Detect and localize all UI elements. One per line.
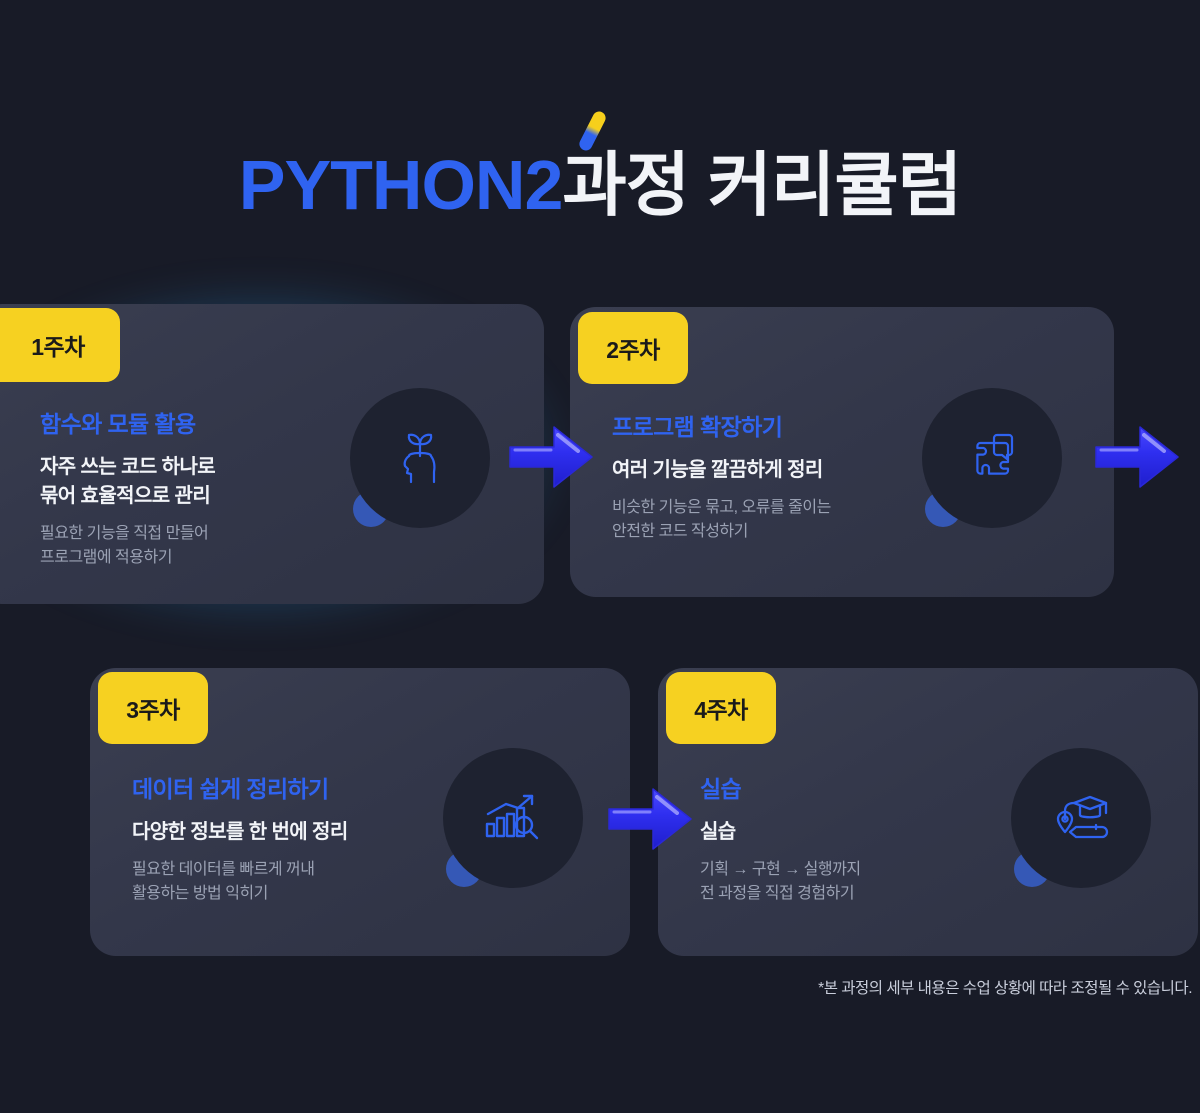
week-badge-3: 3주차: [98, 672, 208, 744]
bar-chart-search-icon: [443, 748, 583, 888]
week-card-4-subtitle: 실습: [700, 818, 861, 847]
week-card-3-text: 데이터 쉽게 정리하기 다양한 정보를 한 번에 정리 필요한 데이터를 빠르게…: [132, 770, 348, 906]
week-card-2-text: 프로그램 확장하기 여러 기능을 깔끔하게 정리 비슷한 기능은 묶고, 오류를…: [612, 408, 831, 544]
week-card-1-description: 필요한 기능을 직접 만들어 프로그램에 적용하기: [40, 522, 215, 570]
week-card-3-title: 데이터 쉽게 정리하기: [132, 770, 348, 804]
week-card-3-description-line-2: 활용하는 방법 익히기: [132, 882, 348, 906]
week-card-4-subtitle-line-1: 실습: [700, 818, 861, 847]
week-badge-2: 2주차: [578, 312, 688, 384]
week-badge-1: 1주차: [0, 308, 120, 382]
arrow-week2-to-next-icon: [1094, 423, 1180, 491]
head-sprout-icon: [350, 388, 490, 528]
title-accent-word: PYTHON2: [239, 150, 563, 220]
page-title: PYTHON2 과정 커리큘럼: [0, 150, 1200, 220]
week-card-1-subtitle: 자주 쓰는 코드 하나로 묶어 효율적으로 관리: [40, 453, 215, 511]
week-card-1-description-line-2: 프로그램에 적용하기: [40, 546, 215, 570]
week-badge-4: 4주차: [666, 672, 776, 744]
week-card-1-title: 함수와 모듈 활용: [40, 405, 215, 439]
week-card-3-subtitle: 다양한 정보를 한 번에 정리: [132, 818, 348, 847]
week-card-1-subtitle-line-1: 자주 쓰는 코드 하나로: [40, 453, 215, 482]
arrow-week3-to-week4-icon: [607, 785, 693, 853]
graduation-pin-pencil-icon: [1011, 748, 1151, 888]
week-card-2-description: 비슷한 기능은 묶고, 오류를 줄이는 안전한 코드 작성하기: [612, 496, 831, 544]
week-card-4-description-line-1: 기획 → 구현 → 실행까지: [700, 858, 861, 882]
title-main-word: 과정 커리큘럼: [562, 150, 961, 220]
week-card-4-text: 실습 실습 기획 → 구현 → 실행까지 전 과정을 직접 경험하기: [700, 770, 861, 906]
week-card-4-description-line-2: 전 과정을 직접 경험하기: [700, 882, 861, 906]
arrow-week1-to-week2-icon: [508, 423, 594, 491]
week-card-1-text: 함수와 모듈 활용 자주 쓰는 코드 하나로 묶어 효율적으로 관리 필요한 기…: [40, 405, 215, 570]
week-card-2-description-line-2: 안전한 코드 작성하기: [612, 520, 831, 544]
week-card-1-subtitle-line-2: 묶어 효율적으로 관리: [40, 482, 215, 511]
week-card-2-subtitle-line-1: 여러 기능을 깔끔하게 정리: [612, 456, 831, 485]
week-card-3-subtitle-line-1: 다양한 정보를 한 번에 정리: [132, 818, 348, 847]
week-card-2-description-line-1: 비슷한 기능은 묶고, 오류를 줄이는: [612, 496, 831, 520]
footnote-text: *본 과정의 세부 내용은 수업 상황에 따라 조정될 수 있습니다.: [0, 976, 1192, 998]
puzzle-pieces-icon: [922, 388, 1062, 528]
week-card-2-subtitle: 여러 기능을 깔끔하게 정리: [612, 456, 831, 485]
week-card-1-description-line-1: 필요한 기능을 직접 만들어: [40, 522, 215, 546]
week-card-3-description: 필요한 데이터를 빠르게 꺼내 활용하는 방법 익히기: [132, 858, 348, 906]
week-card-2-title: 프로그램 확장하기: [612, 408, 831, 442]
week-card-3-description-line-1: 필요한 데이터를 빠르게 꺼내: [132, 858, 348, 882]
curriculum-infographic: PYTHON2 과정 커리큘럼 1주차 함수와 모듈 활용 자주 쓰는 코드 하…: [0, 0, 1200, 1113]
week-card-4-title: 실습: [700, 770, 861, 804]
week-card-4-description: 기획 → 구현 → 실행까지 전 과정을 직접 경험하기: [700, 858, 861, 906]
